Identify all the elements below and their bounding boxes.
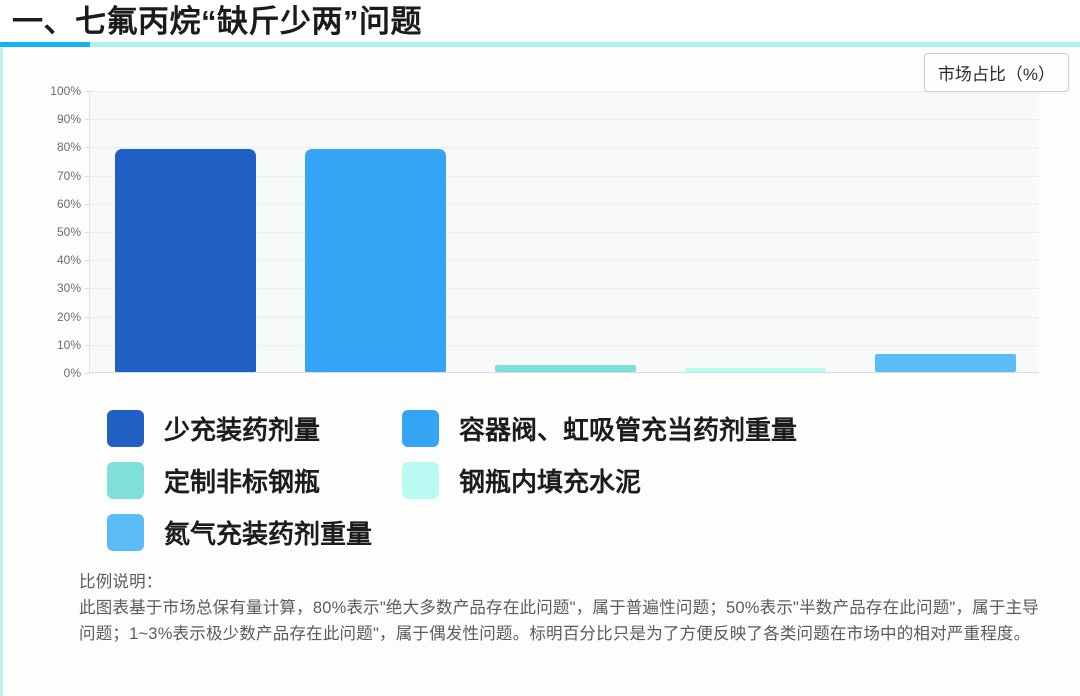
legend-item[interactable]: 定制非标钢瓶 — [107, 462, 402, 499]
legend-row: 少充装药剂量容器阀、虹吸管充当药剂重量 — [107, 402, 1007, 454]
proportion-note: 比例说明： 此图表基于市场总保有量计算，80%表示"绝大多数产品存在此问题"，属… — [79, 569, 1039, 647]
axis-tickmark — [85, 232, 90, 233]
axis-tickmark — [85, 260, 90, 261]
axis-tickmark — [85, 317, 90, 318]
axis-tickmark — [85, 147, 90, 148]
axis-tickmark — [85, 119, 90, 120]
chart-legend: 少充装药剂量容器阀、虹吸管充当药剂重量定制非标钢瓶钢瓶内填充水泥氮气充装药剂重量 — [107, 402, 1007, 558]
legend-item-label: 容器阀、虹吸管充当药剂重量 — [459, 410, 797, 447]
proportion-note-title: 比例说明： — [79, 569, 1039, 595]
y-axis-tick-labels: 0%10%20%30%40%50%60%70%80%90%100% — [41, 85, 85, 371]
plot-area — [89, 91, 1039, 373]
legend-item-label: 少充装药剂量 — [164, 410, 320, 447]
legend-color-swatch — [107, 462, 144, 499]
y-axis-tick: 40% — [57, 253, 81, 267]
y-axis-tick: 80% — [57, 140, 81, 154]
y-axis-tick: 30% — [57, 281, 81, 295]
y-axis-tick: 50% — [57, 225, 81, 239]
bar[interactable] — [685, 368, 826, 372]
legend-color-swatch — [402, 462, 439, 499]
proportion-note-body: 此图表基于市场总保有量计算，80%表示"绝大多数产品存在此问题"，属于普遍性问题… — [79, 595, 1039, 647]
y-axis-tick: 90% — [57, 112, 81, 126]
legend-color-swatch — [107, 514, 144, 551]
y-axis-tick: 60% — [57, 197, 81, 211]
legend-row: 氮气充装药剂重量 — [107, 506, 1007, 558]
y-axis-tick: 20% — [57, 310, 81, 324]
legend-item[interactable]: 少充装药剂量 — [107, 410, 402, 447]
legend-item[interactable]: 氮气充装药剂重量 — [107, 514, 372, 551]
page-title: 一、七氟丙烷“缺斤少两”问题 — [12, 1, 422, 43]
gridline — [90, 119, 1040, 120]
y-axis-tick: 70% — [57, 169, 81, 183]
axis-tickmark — [85, 176, 90, 177]
bar[interactable] — [305, 149, 446, 372]
legend-row: 定制非标钢瓶钢瓶内填充水泥 — [107, 454, 1007, 506]
legend-item-label: 定制非标钢瓶 — [164, 462, 320, 499]
gridline — [90, 91, 1040, 92]
chart-legend-badge[interactable]: 市场占比（%） — [924, 53, 1069, 92]
y-axis-tick: 100% — [50, 84, 81, 98]
legend-color-swatch — [107, 410, 144, 447]
legend-item-label: 钢瓶内填充水泥 — [459, 462, 641, 499]
axis-tickmark — [85, 91, 90, 92]
legend-item[interactable]: 容器阀、虹吸管充当药剂重量 — [402, 410, 797, 447]
bar-chart: 市场占比（%） 0%10%20%30%40%50%60%70%80%90%100… — [3, 47, 1080, 392]
y-axis-tick: 0% — [64, 366, 81, 380]
y-axis-tick: 10% — [57, 338, 81, 352]
legend-item-label: 氮气充装药剂重量 — [164, 514, 372, 551]
page-header: 一、七氟丙烷“缺斤少两”问题 — [0, 0, 1080, 47]
axis-tickmark — [85, 204, 90, 205]
legend-color-swatch — [402, 410, 439, 447]
bar[interactable] — [115, 149, 256, 372]
bar[interactable] — [875, 354, 1016, 372]
axis-tickmark — [85, 288, 90, 289]
axis-tickmark — [85, 373, 90, 374]
gridline — [90, 147, 1040, 148]
legend-item[interactable]: 钢瓶内填充水泥 — [402, 462, 641, 499]
axis-tickmark — [85, 345, 90, 346]
slide-body: 市场占比（%） 0%10%20%30%40%50%60%70%80%90%100… — [0, 47, 1080, 696]
bar[interactable] — [495, 365, 636, 372]
